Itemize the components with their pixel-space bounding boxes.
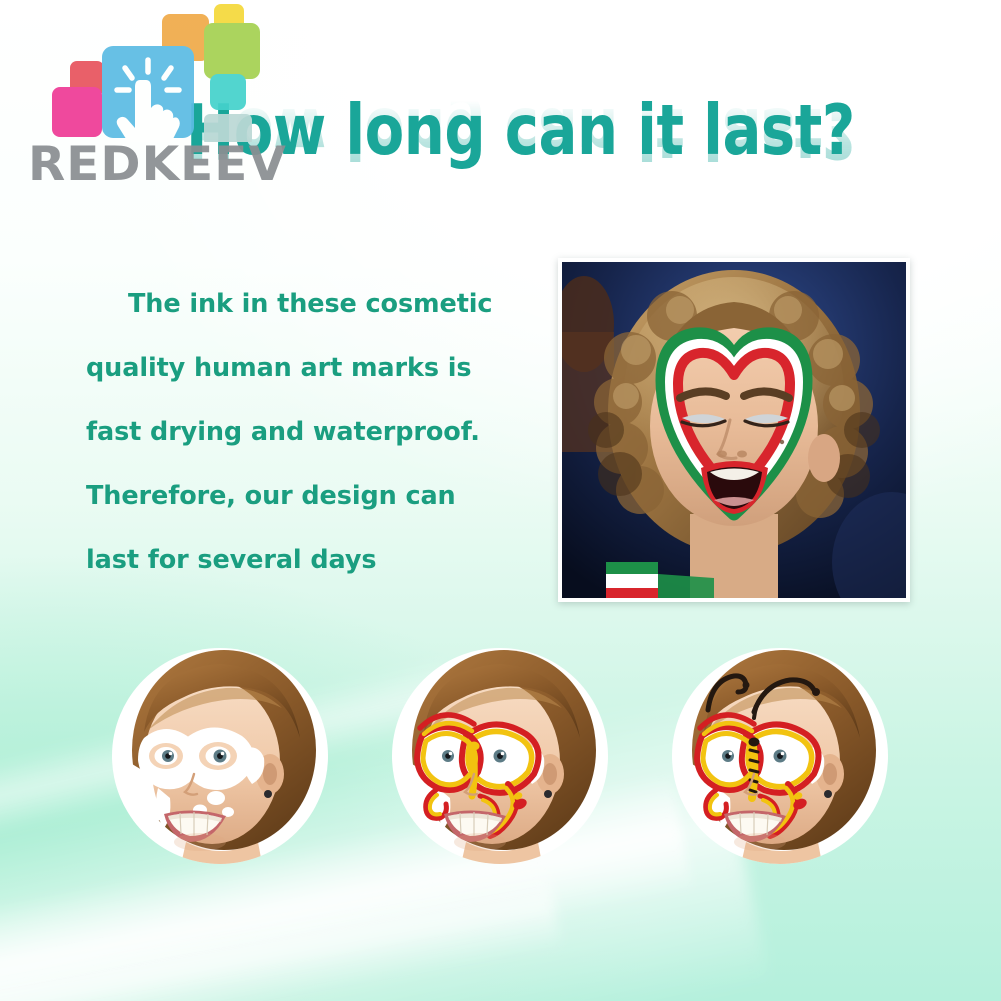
child-white-base-illustration [108, 646, 333, 896]
step-color-outline [388, 646, 613, 896]
body-copy: The ink in these cosmetic quality human … [86, 272, 538, 592]
woman-face-paint-photo [558, 258, 910, 602]
body-copy-line: last for several days [86, 528, 538, 592]
pink-square [52, 87, 102, 137]
face-paint-step-sequence [0, 640, 1001, 915]
redkeev-watermark: REDKEEV [18, 2, 298, 202]
body-copy-line: fast drying and waterproof. [86, 400, 538, 464]
green-square [204, 23, 260, 79]
teal-square [210, 74, 246, 110]
child-color-outline-illustration [388, 646, 613, 896]
touch-click-squares-logo [18, 2, 298, 142]
brand-wordmark: REDKEEV [28, 141, 287, 188]
child-final-design-illustration [668, 646, 893, 896]
step-final-details [668, 646, 893, 896]
woman-face-paint-illustration [562, 262, 906, 598]
body-copy-line: quality human art marks is [86, 336, 538, 400]
body-copy-line: Therefore, our design can [86, 464, 538, 528]
body-copy-line: The ink in these cosmetic [86, 272, 538, 336]
step-white-base [108, 646, 333, 896]
infographic-page: How long can it last? How long can it la… [0, 0, 1001, 1001]
